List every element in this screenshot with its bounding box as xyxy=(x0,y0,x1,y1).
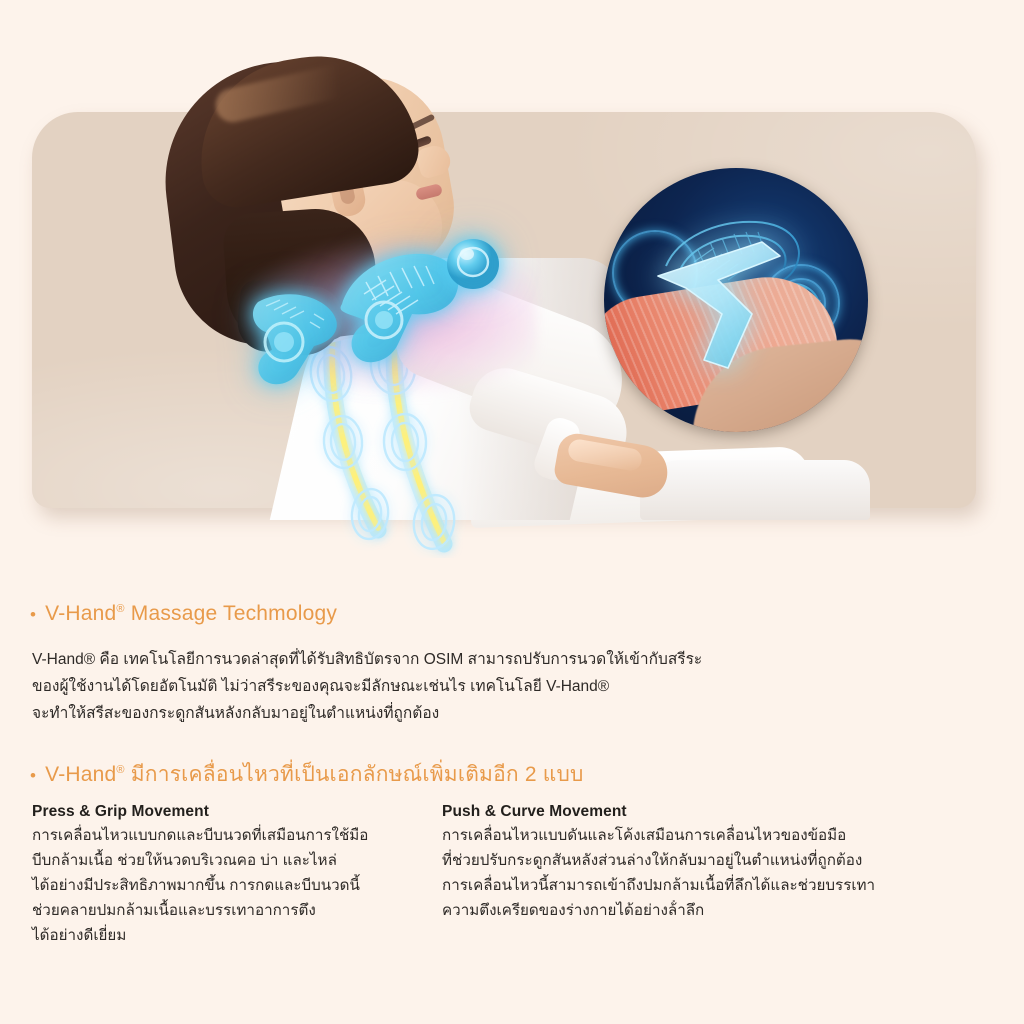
section-1-bullet-icon: • xyxy=(30,606,36,623)
column-push-and-curve: Push & Curve Movement การเคลื่อนไหวแบบดั… xyxy=(442,803,902,948)
movement-columns: Press & Grip Movement การเคลื่อนไหวแบบกด… xyxy=(0,803,1024,948)
inset-vhand-arrow xyxy=(634,210,824,400)
column-line: การเคลื่อนไหวนี้สามารถเข้าถึงปมกล้ามเนื้… xyxy=(442,873,902,898)
column-line: ช่วยคลายปมกล้ามเนื้อและบรรเทาอาการตึง xyxy=(32,898,460,923)
paragraph-line: จะทําให้สรีสะของกระดูกสันหลังกลับมาอยู่ใ… xyxy=(32,700,702,727)
registered-trademark-icon: ® xyxy=(116,764,124,776)
column-line: การเคลื่อนไหวแบบดันและโค้งเสมือนการเคลื่… xyxy=(442,823,902,848)
column-line: การเคลื่อนไหวแบบกดและบีบนวดที่เสมือนการใ… xyxy=(32,823,460,848)
column-line: ที่ช่วยปรับกระดูกสันหลังส่วนล่างให้กลับม… xyxy=(442,848,902,873)
magnified-inset xyxy=(604,168,868,432)
column-title: Push & Curve Movement xyxy=(442,803,902,821)
column-body: การเคลื่อนไหวแบบกดและบีบนวดที่เสมือนการใ… xyxy=(32,823,460,948)
column-title: Press & Grip Movement xyxy=(32,803,460,821)
paragraph-line: V-Hand® คือ เทคโนโลยีการนวดล่าสุดที่ได้ร… xyxy=(32,646,702,673)
column-line: ได้อย่างดีเยี่ยม xyxy=(32,923,460,948)
section-2-heading: • V-Hand® มีการเคลื่อนไหวที่เป็นเอกลักษณ… xyxy=(0,758,584,791)
section-1-heading-text: V-Hand® Massage Techmology xyxy=(45,602,337,626)
paragraph-line: ของผู้ใช้งานได้โดยอัตโนมัติ ไม่ว่าสรีระข… xyxy=(32,673,702,700)
section-2-heading-text: V-Hand® มีการเคลื่อนไหวที่เป็นเอกลักษณ์เ… xyxy=(45,758,583,791)
column-press-and-grip: Press & Grip Movement การเคลื่อนไหวแบบกด… xyxy=(0,803,460,948)
column-line: ได้อย่างมีประสิทธิภาพมากขึ้น การกดและบีบ… xyxy=(32,873,460,898)
registered-trademark-icon: ® xyxy=(116,603,124,615)
section-2-bullet-icon: • xyxy=(30,767,36,784)
column-line: ความตึงเครียดของร่างกายได้อย่างล้ําลึก xyxy=(442,898,902,923)
column-body: การเคลื่อนไหวแบบดันและโค้งเสมือนการเคลื่… xyxy=(442,823,902,923)
column-line: บีบกล้ามเนื้อ ช่วยให้นวดบริเวณคอ บ่า และ… xyxy=(32,848,460,873)
section-1-heading: • V-Hand® Massage Techmology xyxy=(0,602,337,626)
section-1-paragraph: V-Hand® คือ เทคโนโลยีการนวดล่าสุดที่ได้ร… xyxy=(0,646,702,727)
